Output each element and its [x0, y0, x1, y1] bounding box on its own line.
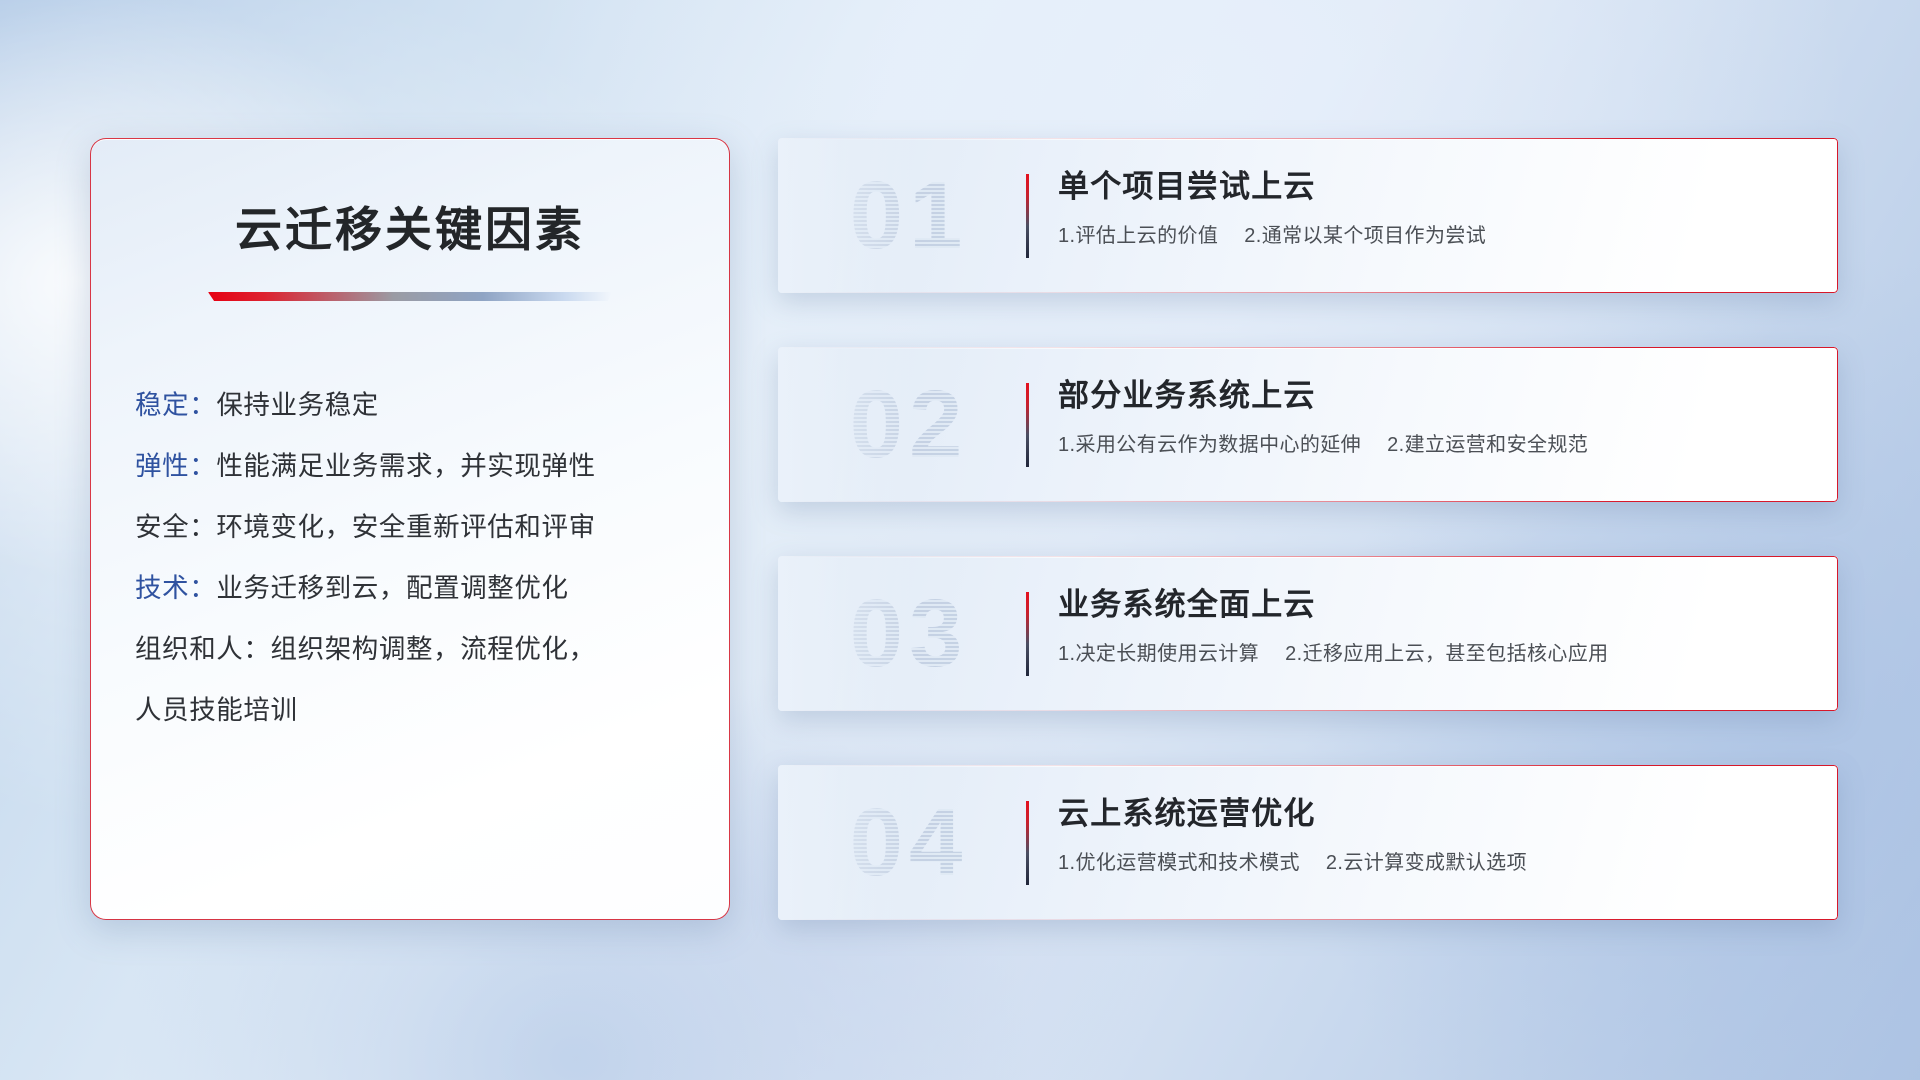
factor-key: 技术：	[135, 573, 216, 603]
list-item: 安全：环境变化，安全重新评估和评审	[135, 497, 729, 558]
stage-card-list: 01 单个项目尝试上云 1.评估上云的价值2.通常以某个项目作为尝试 02 部分…	[778, 138, 1838, 974]
stage-divider-bar	[1026, 801, 1029, 885]
stage-number-badge: 03	[778, 556, 1028, 711]
stage-number: 01	[814, 156, 1004, 276]
stage-description-part-1: 1.优化运营模式和技术模式	[1058, 852, 1300, 874]
stage-description: 1.决定长期使用云计算2.迁移应用上云，甚至包括核心应用	[1058, 641, 1794, 667]
list-item: 弹性：性能满足业务需求，并实现弹性	[135, 436, 729, 497]
stage-title: 单个项目尝试上云	[1058, 168, 1794, 205]
stage-description-part-2: 2.通常以某个项目作为尝试	[1244, 225, 1486, 247]
stage-divider-bar	[1026, 174, 1029, 258]
factor-text: 业务迁移到云，配置调整优化	[216, 573, 568, 603]
page-title: 云迁移关键因素	[91, 191, 729, 260]
factor-list: 稳定：保持业务稳定 弹性：性能满足业务需求，并实现弹性 安全：环境变化，安全重新…	[135, 375, 729, 741]
factor-text: 组织架构调整，流程优化，	[271, 634, 596, 664]
stage-number-badge: 02	[778, 347, 1028, 502]
stage-number-badge: 04	[778, 765, 1028, 920]
list-item: 组织和人：组织架构调整，流程优化，	[135, 619, 729, 680]
factor-text: 环境变化，安全重新评估和评审	[216, 512, 595, 542]
stage-divider-bar	[1026, 383, 1029, 467]
stage-description-part-1: 1.决定长期使用云计算	[1058, 643, 1259, 665]
stage-number: 04	[814, 783, 1004, 903]
factor-key: 安全：	[135, 512, 216, 542]
stage-description: 1.优化运营模式和技术模式2.云计算变成默认选项	[1058, 850, 1794, 876]
stage-number: 03	[814, 574, 1004, 694]
stage-title: 部分业务系统上云	[1058, 377, 1794, 414]
key-factors-panel: 云迁移关键因素 稳定：保持业务稳定 弹性：性能满足业务需求，并实现弹性 安全：环…	[90, 138, 730, 920]
stage-card-body: 云上系统运营优化 1.优化运营模式和技术模式2.云计算变成默认选项	[1058, 795, 1794, 876]
stage-number: 02	[814, 365, 1004, 485]
factor-text: 性能满足业务需求，并实现弹性	[216, 451, 595, 481]
stage-card-body: 单个项目尝试上云 1.评估上云的价值2.通常以某个项目作为尝试	[1058, 168, 1794, 249]
slide-canvas: 云迁移关键因素 稳定：保持业务稳定 弹性：性能满足业务需求，并实现弹性 安全：环…	[0, 0, 1920, 1080]
list-item: 稳定：保持业务稳定	[135, 375, 729, 436]
factor-text: 人员技能培训	[135, 695, 298, 725]
stage-divider-bar	[1026, 592, 1029, 676]
stage-number-badge: 01	[778, 138, 1028, 293]
stage-card-body: 部分业务系统上云 1.采用公有云作为数据中心的延伸2.建立运营和安全规范	[1058, 377, 1794, 458]
stage-description-part-2: 2.迁移应用上云，甚至包括核心应用	[1285, 643, 1608, 665]
stage-description-part-1: 1.评估上云的价值	[1058, 225, 1218, 247]
stage-card[interactable]: 04 云上系统运营优化 1.优化运营模式和技术模式2.云计算变成默认选项	[778, 765, 1838, 920]
stage-description-part-2: 2.建立运营和安全规范	[1387, 434, 1588, 456]
factor-key: 弹性：	[135, 451, 216, 481]
stage-description-part-2: 2.云计算变成默认选项	[1326, 852, 1527, 874]
stage-card-body: 业务系统全面上云 1.决定长期使用云计算2.迁移应用上云，甚至包括核心应用	[1058, 586, 1794, 667]
stage-description: 1.评估上云的价值2.通常以某个项目作为尝试	[1058, 223, 1794, 249]
list-item: 技术：业务迁移到云，配置调整优化	[135, 558, 729, 619]
stage-title: 业务系统全面上云	[1058, 586, 1794, 623]
stage-title: 云上系统运营优化	[1058, 795, 1794, 832]
factor-text: 保持业务稳定	[216, 390, 379, 420]
list-item-continuation: 人员技能培训	[135, 680, 729, 741]
factor-key: 组织和人：	[135, 634, 271, 664]
stage-card[interactable]: 03 业务系统全面上云 1.决定长期使用云计算2.迁移应用上云，甚至包括核心应用	[778, 556, 1838, 711]
stage-card[interactable]: 02 部分业务系统上云 1.采用公有云作为数据中心的延伸2.建立运营和安全规范	[778, 347, 1838, 502]
title-underline-rule	[208, 292, 612, 301]
stage-description: 1.采用公有云作为数据中心的延伸2.建立运营和安全规范	[1058, 432, 1794, 458]
stage-description-part-1: 1.采用公有云作为数据中心的延伸	[1058, 434, 1361, 456]
factor-key: 稳定：	[135, 390, 216, 420]
stage-card[interactable]: 01 单个项目尝试上云 1.评估上云的价值2.通常以某个项目作为尝试	[778, 138, 1838, 293]
